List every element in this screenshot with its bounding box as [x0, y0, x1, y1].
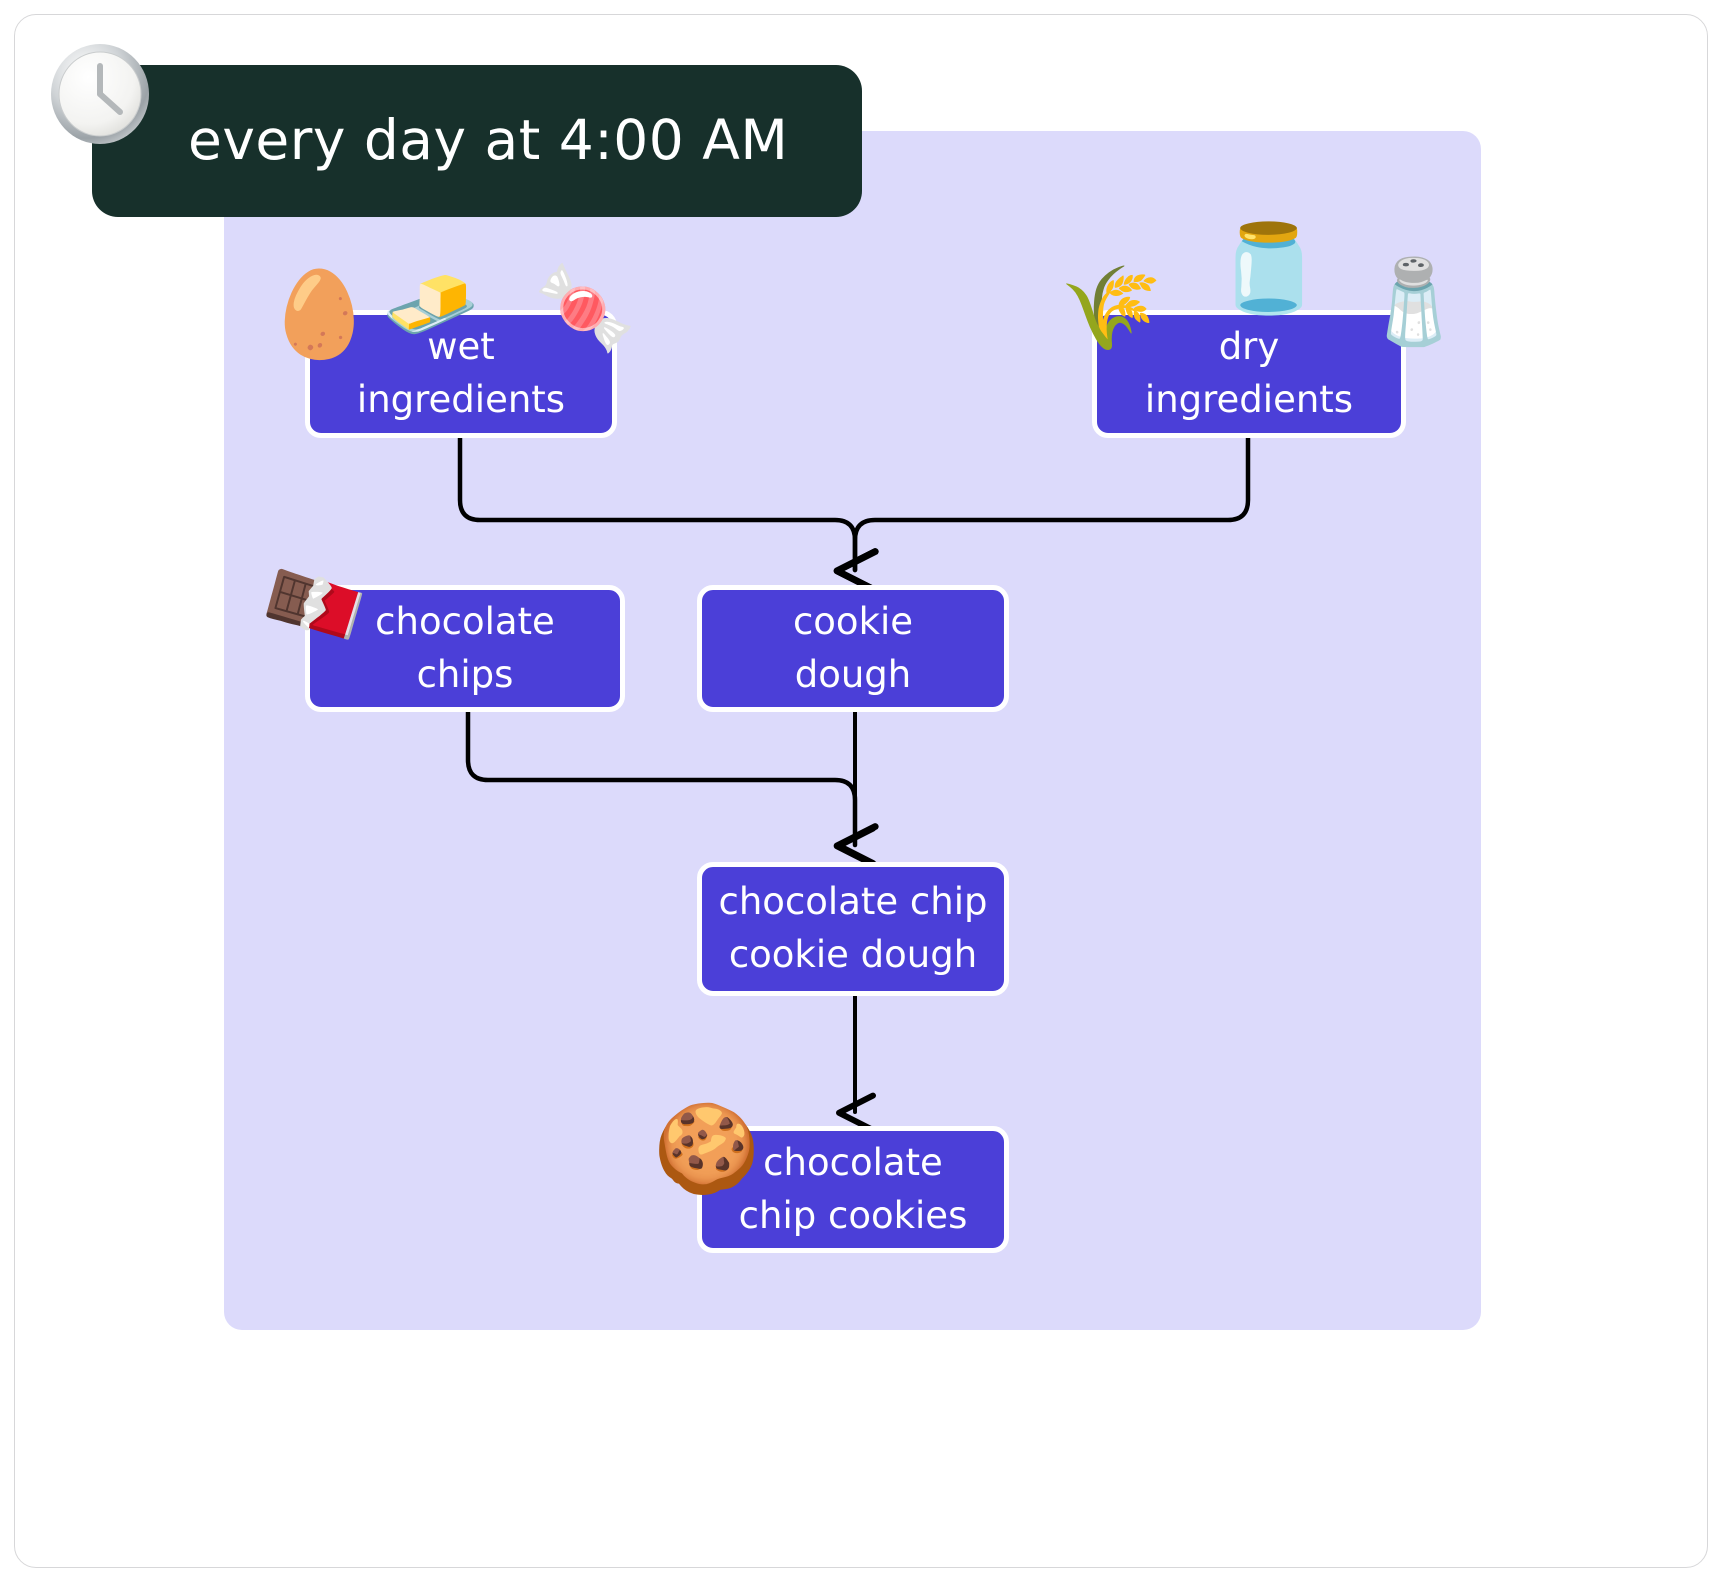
node-label-line: ingredients	[357, 374, 565, 427]
clock-four-oclock-icon	[48, 42, 152, 146]
wheat-icon: 🌾	[1060, 268, 1162, 350]
schedule-title-pill: every day at 4:00 AM	[92, 65, 862, 217]
node-label-line: chocolate chip	[719, 876, 988, 929]
node-label-line: chocolate	[375, 596, 555, 649]
node-label-line: cookie	[793, 596, 913, 649]
sugar-sack-icon: 🍬	[534, 268, 636, 350]
jar-icon: 🫙	[1215, 226, 1322, 312]
egg-icon: 🥚	[267, 272, 372, 356]
salt-shaker-icon: 🧂	[1363, 262, 1465, 344]
node-cookie-dough[interactable]: cookie dough	[697, 585, 1009, 712]
node-label-line: dry	[1219, 321, 1280, 374]
node-label-line: dough	[795, 649, 912, 702]
node-label-line: chocolate	[763, 1137, 943, 1190]
node-label-line: cookie dough	[729, 929, 977, 982]
screenshot-root: every day at 4:00 AM wet ingredients	[0, 0, 1730, 1588]
cookie-icon: 🍪	[653, 1106, 760, 1192]
node-label-line: ingredients	[1145, 374, 1353, 427]
butter-icon: 🧈	[382, 266, 479, 344]
node-chocolate-chip-cookie-dough[interactable]: chocolate chip cookie dough	[697, 862, 1009, 996]
node-label-line: chip cookies	[739, 1190, 968, 1243]
schedule-title-text: every day at 4:00 AM	[188, 112, 788, 170]
node-label-line: chips	[417, 649, 514, 702]
